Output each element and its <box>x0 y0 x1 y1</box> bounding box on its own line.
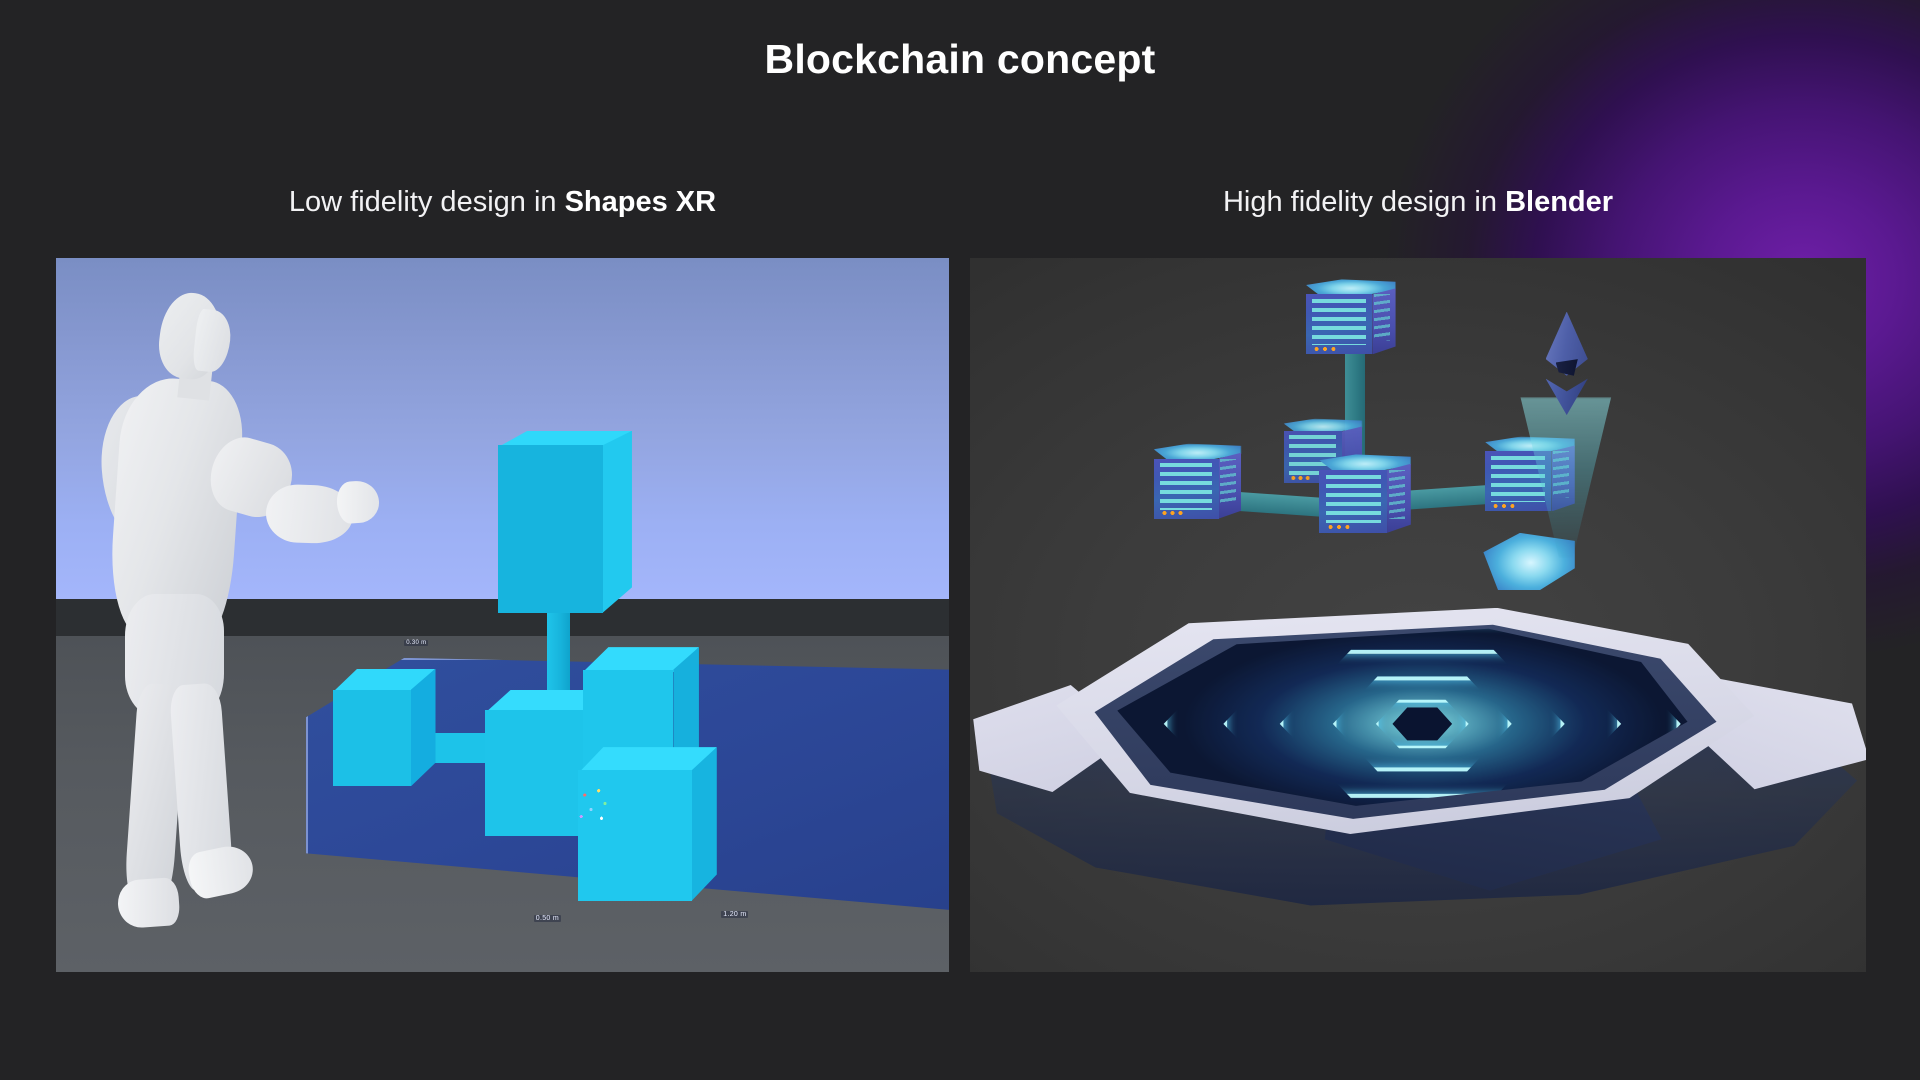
panel-caption-left: Low fidelity design in Shapes XR <box>56 186 949 219</box>
page-title: Blockchain concept <box>0 36 1920 83</box>
server-node-left <box>1154 444 1242 519</box>
block-front-face <box>498 445 602 612</box>
dimension-label-2: 1.20 m <box>721 911 748 918</box>
server-led-indicators <box>1291 476 1310 479</box>
ethereum-lower-facet <box>1546 370 1588 416</box>
block-side-face <box>692 747 717 901</box>
block-side-face <box>603 431 632 613</box>
server-led-indicators <box>1328 525 1350 529</box>
caption-right-prefix: High fidelity design in <box>1223 186 1505 218</box>
low-fidelity-design-image: 0.50 m 1.20 m 0.30 m <box>56 258 949 972</box>
caption-right-tool: Blender <box>1505 186 1613 218</box>
server-node-front <box>1319 454 1410 533</box>
server-vent-stripes <box>1326 475 1381 524</box>
server-vent-stripes <box>1160 463 1213 509</box>
avatar-mannequin <box>83 272 404 957</box>
caption-left-tool: Shapes XR <box>565 186 717 218</box>
server-led-indicators <box>1314 347 1336 351</box>
dimension-label-1: 0.50 m <box>534 915 561 922</box>
dimension-label-3: 0.30 m <box>404 640 428 646</box>
server-vent-stripes-side <box>1389 470 1405 519</box>
avatar-face <box>192 308 234 373</box>
server-led-indicators <box>1493 504 1515 508</box>
server-led-indicators <box>1162 511 1183 515</box>
caption-left-prefix: Low fidelity design in <box>289 186 565 218</box>
high-fidelity-design-image <box>970 258 1866 972</box>
server-vent-stripes-side <box>1374 294 1390 340</box>
avatar-back-shoe <box>117 877 181 929</box>
server-node-elevated <box>1306 279 1396 354</box>
blender-render-scene <box>970 258 1866 972</box>
server-vent-stripes-side <box>1220 459 1236 505</box>
server-vent-stripes <box>1312 299 1366 345</box>
block-front-face <box>485 710 589 836</box>
sparkle-gizmo-icon <box>577 783 613 826</box>
avatar-hand <box>335 480 380 525</box>
panel-caption-right: High fidelity design in Blender <box>970 186 1866 219</box>
ethereum-diamond-icon <box>1539 312 1595 416</box>
cyan-block-top <box>498 431 632 613</box>
shapesxr-scene: 0.50 m 1.20 m 0.30 m <box>56 258 949 972</box>
